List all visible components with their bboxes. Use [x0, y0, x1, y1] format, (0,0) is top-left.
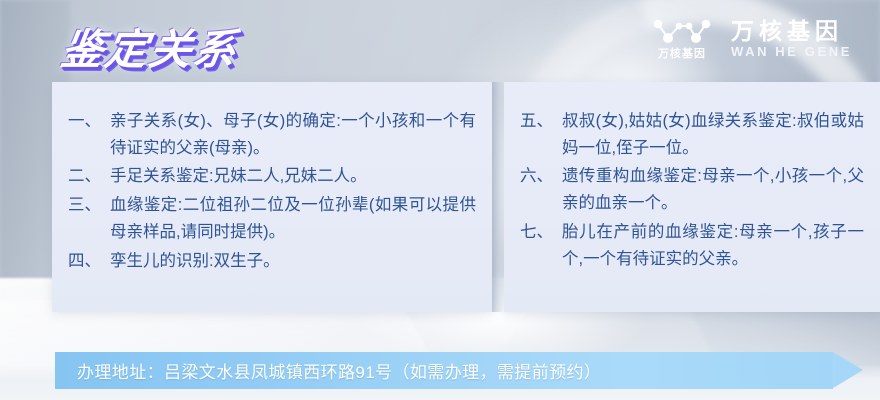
list-item-number: 五、: [520, 108, 562, 135]
address-banner-arrow-icon: [833, 352, 863, 388]
list-item-number: 一、: [68, 108, 110, 135]
brand-name-cn: 万核基因: [731, 19, 852, 43]
list-item-text: 血缘鉴定:二位祖孙二位及一位孙辈(如果可以提供母亲样品,请同时提供)。: [110, 192, 476, 245]
list-item: 六、 遗传重构血缘鉴定:母亲一个,小孩一个,父亲的血亲一个。: [520, 163, 864, 216]
list-item: 二、 手足关系鉴定:兄妹二人,兄妹二人。: [68, 163, 476, 190]
list-item: 四、 孪生儿的识别:双生子。: [68, 248, 476, 275]
list-item-number: 三、: [68, 192, 110, 219]
list-item-number: 七、: [520, 219, 562, 246]
address-banner-text: 办理地址：吕梁文水县凤城镇西环路91号（如需办理，需提前预约）: [77, 352, 601, 389]
list-item: 三、 血缘鉴定:二位祖孙二位及一位孙辈(如果可以提供母亲样品,请同时提供)。: [68, 192, 476, 245]
relationship-panel-right: 五、 叔叔(女),姑姑(女)血绿关系鉴定:叔伯或姑妈一位,侄子一位。 六、 遗传…: [504, 82, 880, 312]
relationship-list-right: 五、 叔叔(女),姑姑(女)血绿关系鉴定:叔伯或姑妈一位,侄子一位。 六、 遗传…: [504, 82, 880, 274]
list-item-number: 二、: [68, 163, 110, 190]
relationship-list-left: 一、 亲子关系(女)、母子(女)的确定:一个小孩和一个有待证实的父亲(母亲)。 …: [52, 82, 492, 276]
molecule-network-icon: [651, 18, 713, 46]
list-item-text: 亲子关系(女)、母子(女)的确定:一个小孩和一个有待证实的父亲(母亲)。: [110, 108, 476, 161]
list-item-text: 胎儿在产前的血缘鉴定:母亲一个,孩子一个,一个有待证实的父亲。: [562, 219, 864, 272]
address-banner: 办理地址：吕梁文水县凤城镇西环路91号（如需办理，需提前预约）: [55, 352, 863, 389]
list-item: 七、 胎儿在产前的血缘鉴定:母亲一个,孩子一个,一个有待证实的父亲。: [520, 219, 864, 272]
brand-name-en: WAN HE GENE: [731, 45, 852, 59]
brand-logo-mark: 万核基因: [651, 18, 713, 60]
brand-mark-label: 万核基因: [658, 49, 706, 60]
list-item-text: 手足关系鉴定:兄妹二人,兄妹二人。: [110, 163, 476, 190]
list-item: 五、 叔叔(女),姑姑(女)血绿关系鉴定:叔伯或姑妈一位,侄子一位。: [520, 108, 864, 161]
page-title: 鉴定关系: [57, 16, 243, 77]
brand-wordmark: 万核基因 WAN HE GENE: [731, 19, 852, 59]
list-item: 一、 亲子关系(女)、母子(女)的确定:一个小孩和一个有待证实的父亲(母亲)。: [68, 108, 476, 161]
brand-logo: 万核基因 万核基因 WAN HE GENE: [651, 18, 852, 60]
list-item-text: 叔叔(女),姑姑(女)血绿关系鉴定:叔伯或姑妈一位,侄子一位。: [562, 108, 864, 161]
list-item-text: 遗传重构血缘鉴定:母亲一个,小孩一个,父亲的血亲一个。: [562, 163, 864, 216]
poster-canvas: 鉴定关系: [0, 0, 880, 400]
list-item-text: 孪生儿的识别:双生子。: [110, 248, 476, 275]
list-item-number: 六、: [520, 163, 562, 190]
list-item-number: 四、: [68, 248, 110, 275]
relationship-panel-left: 一、 亲子关系(女)、母子(女)的确定:一个小孩和一个有待证实的父亲(母亲)。 …: [52, 82, 492, 312]
